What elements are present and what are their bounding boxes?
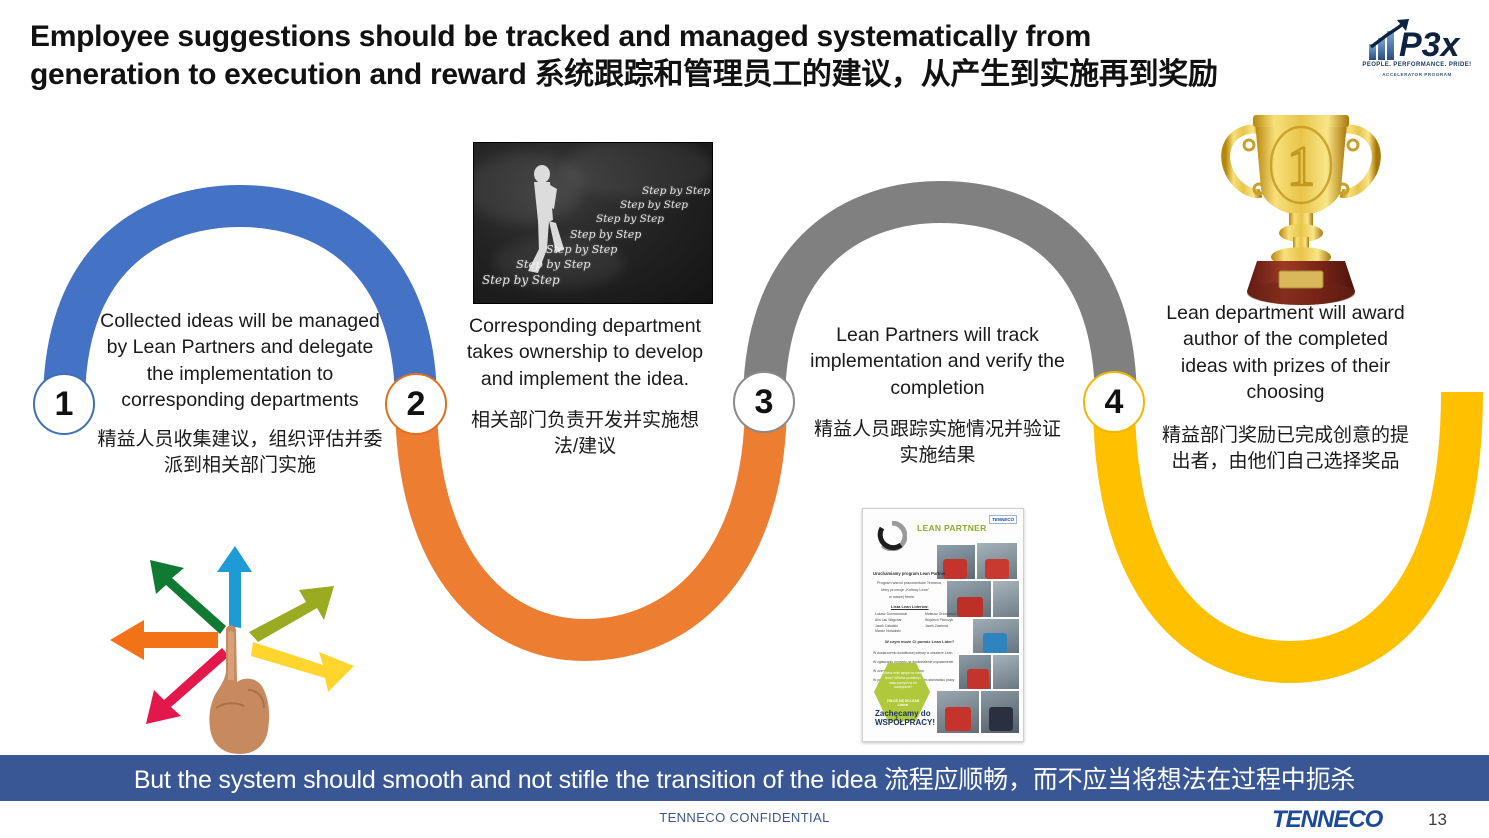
poster-body-1: Program wsród pracowników Tenneco, xyxy=(877,581,942,585)
p3x-logo-icon: P3x xyxy=(1357,14,1477,64)
step-text-block-2: Corresponding department takes ownership… xyxy=(465,313,705,459)
page-title: Employee suggestions should be tracked a… xyxy=(30,18,1340,95)
step-3-chinese-text: 精益人员跟踪实施情况并验证实施结果 xyxy=(810,417,1065,468)
step-text-block-3: Lean Partners will track implementation … xyxy=(810,322,1065,468)
step-number-circle-3[interactable]: 3 xyxy=(733,371,795,433)
poster-footer-line-1: Zachęcamy do xyxy=(875,709,931,718)
step-3-english-text: Lean Partners will track implementation … xyxy=(810,322,1065,401)
step-number-circle-4[interactable]: 4 xyxy=(1083,371,1145,433)
chalkboard-step-by-step-image: Step by Step Step by Step Step by Step S… xyxy=(473,142,713,304)
poster-photo xyxy=(989,707,1013,731)
poster-photo xyxy=(985,559,1009,579)
poster-photo xyxy=(967,669,989,689)
step-text-block-1: Collected ideas will be managed by Lean … xyxy=(95,308,385,479)
p3x-subtagline: ACCELERATOR PROGRAM xyxy=(1357,72,1477,77)
step-number-4: 4 xyxy=(1105,383,1124,422)
step-2-english-text: Corresponding department takes ownership… xyxy=(465,313,705,392)
step-number-1: 1 xyxy=(55,385,74,424)
poster-name: Marcin Nowakski xyxy=(875,629,907,635)
trophy-engraving-number: 1 xyxy=(1287,136,1315,198)
page-number: 13 xyxy=(1428,810,1447,830)
poster-photo xyxy=(945,707,971,731)
poster-hex-cta: ZGŁOŚ SIĘ DO LEAN Lidera! xyxy=(883,699,923,708)
title-line-2-en: generation to execution and reward xyxy=(30,58,535,91)
poster-name: Mateusz Grzmowiski xyxy=(925,612,956,618)
svg-text:P3x: P3x xyxy=(1399,26,1462,64)
poster-question: W czym może Ci pomóc Lean Lider? xyxy=(885,639,954,644)
arrow-yellow-icon xyxy=(251,642,354,692)
slide-root: Employee suggestions should be tracked a… xyxy=(0,0,1489,838)
poster-photo xyxy=(943,559,967,579)
poster-names-right: Mateusz Grzmowiski Wojciech Pilorczyk Ja… xyxy=(925,612,956,629)
poster-brand-label: TENNECO xyxy=(989,515,1017,524)
step-number-3: 3 xyxy=(755,383,774,422)
poster-footer-line-2: WSPÓŁPRACY! xyxy=(875,718,935,727)
lean-partner-poster-image: TENNECO LEAN PARTNER Uruchamiamy program… xyxy=(862,508,1024,742)
p3x-tagline: PEOPLE. PERFORMANCE. PRIDE! xyxy=(1357,62,1477,68)
poster-photo xyxy=(957,597,983,617)
trophy-award-image: 1 xyxy=(1213,103,1389,318)
poster-body-3: w naszej firmie. xyxy=(889,595,915,599)
poster-name: Łukasz Dormanowski xyxy=(875,612,907,618)
p3x-logo: P3x PEOPLE. PERFORMANCE. PRIDE! ACCELERA… xyxy=(1357,14,1477,90)
footer-confidential-label: TENNECO CONFIDENTIAL xyxy=(0,810,1489,825)
poster-body-2: który promuje „Kulturę Lean" xyxy=(881,588,929,592)
poster-name: Jacek Zawirnici xyxy=(925,624,956,630)
poster-intro: Uruchamiamy program Lean Partner xyxy=(873,571,946,576)
poster-bullet: W dostarczeniu dodatkowej wiedzy w obsza… xyxy=(873,649,954,658)
step-text-block-4: Lean department will award author of the… xyxy=(1158,300,1413,475)
poster-names-left: Łukasz Dormanowski Alin Lau Wagchar Jace… xyxy=(875,612,907,635)
banner-text-cn: 流程应顺畅，而不应当将想法在过程中扼杀 xyxy=(884,766,1355,794)
arrow-olive-icon xyxy=(249,586,334,642)
banner-text-en: But the system should smooth and not sti… xyxy=(134,766,884,794)
idea-directions-arrows-image xyxy=(98,530,388,755)
step-4-chinese-text: 精益部门奖励已完成创意的提出者，由他们自己选择奖品 xyxy=(1158,423,1413,474)
tenneco-logo: TENNECO xyxy=(1272,806,1382,834)
arrow-blue-icon xyxy=(217,546,252,628)
arrow-green-icon xyxy=(150,560,226,634)
poster-photo xyxy=(993,655,1019,689)
step-1-english-text: Collected ideas will be managed by Lean … xyxy=(95,308,385,413)
title-line-1: Employee suggestions should be tracked a… xyxy=(30,20,1091,53)
banner-text: But the system should smooth and not sti… xyxy=(134,760,1355,796)
bottom-banner: But the system should smooth and not sti… xyxy=(0,755,1489,801)
step-number-circle-2[interactable]: 2 xyxy=(385,373,447,435)
arrow-orange-icon xyxy=(110,620,218,660)
title-line-2-cn: 系统跟踪和管理员工的建议，从产生到实施再到奖励 xyxy=(535,58,1218,91)
poster-name: Wojciech Pilorczyk xyxy=(925,618,956,624)
poster-hex-text: Chcesz mieć wpływ na rozwój firmy? Widzi… xyxy=(881,671,925,690)
poster-photo xyxy=(983,633,1007,653)
poster-photo xyxy=(993,581,1019,617)
step-number-circle-1[interactable]: 1 xyxy=(33,373,95,435)
poster-logo-icon xyxy=(877,521,907,551)
step-1-chinese-text: 精益人员收集建议，组织评估并委派到相关部门实施 xyxy=(95,427,385,478)
poster-list-heading: Lista Lean Liderów: xyxy=(891,604,929,609)
poster-heading: LEAN PARTNER xyxy=(917,523,987,533)
poster-footer-call: Zachęcamy do WSPÓŁPRACY! xyxy=(875,709,935,727)
step-number-2: 2 xyxy=(407,385,426,424)
step-2-chinese-text: 相关部门负责开发并实施想法/建议 xyxy=(465,408,705,459)
